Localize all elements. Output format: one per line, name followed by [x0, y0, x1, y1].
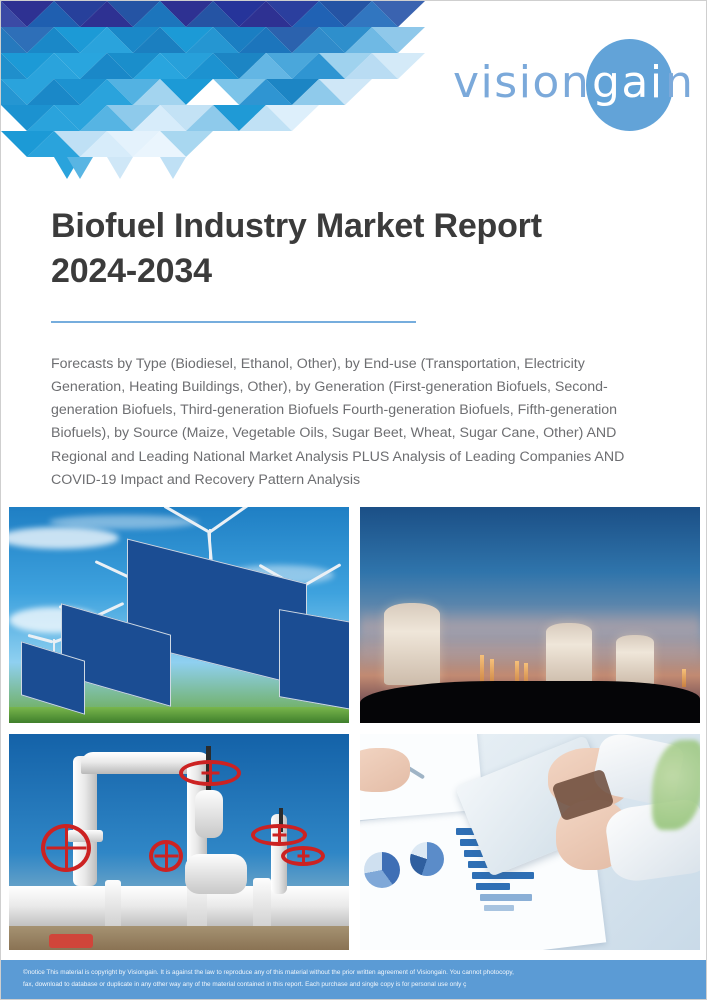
- image-business-analytics: [360, 734, 700, 950]
- valve-handwheel: [251, 824, 307, 846]
- logo-text-gain: gai: [592, 61, 664, 105]
- report-subtitle: Forecasts by Type (Biodiesel, Ethanol, O…: [51, 353, 651, 492]
- cover-image-grid: [9, 507, 700, 953]
- copyright-footer: ©notice This material is copyright by Vi…: [1, 957, 707, 999]
- page-title-line2: 2024-2034: [51, 249, 651, 294]
- copyright-notice: ©notice This material is copyright by Vi…: [23, 967, 688, 991]
- image-power-plant-towers: [360, 507, 700, 723]
- report-cover-page: vision gai n Biofuel Industry Market Rep…: [0, 0, 707, 1000]
- visiongain-logo: vision gai n: [453, 37, 683, 137]
- copyright-line-2: fax, download to database or duplicate i…: [23, 979, 688, 991]
- mosaic-header-graphic: [1, 1, 425, 179]
- valve-handwheel: [281, 846, 325, 866]
- copyright-line-1: ©notice This material is copyright by Vi…: [23, 967, 688, 979]
- page-title: Biofuel Industry Market Report 2024-2034: [51, 204, 651, 294]
- valve-handwheel: [41, 824, 91, 872]
- page-title-line1: Biofuel Industry Market Report: [51, 204, 651, 249]
- valve-handwheel: [149, 840, 183, 872]
- title-divider: [51, 321, 416, 323]
- image-pipeline-valves: [9, 734, 349, 950]
- image-solar-wind-farm: [9, 507, 349, 723]
- logo-text-n: n: [665, 61, 693, 105]
- valve-handwheel: [179, 760, 241, 786]
- logo-text-vision: vision: [453, 61, 590, 105]
